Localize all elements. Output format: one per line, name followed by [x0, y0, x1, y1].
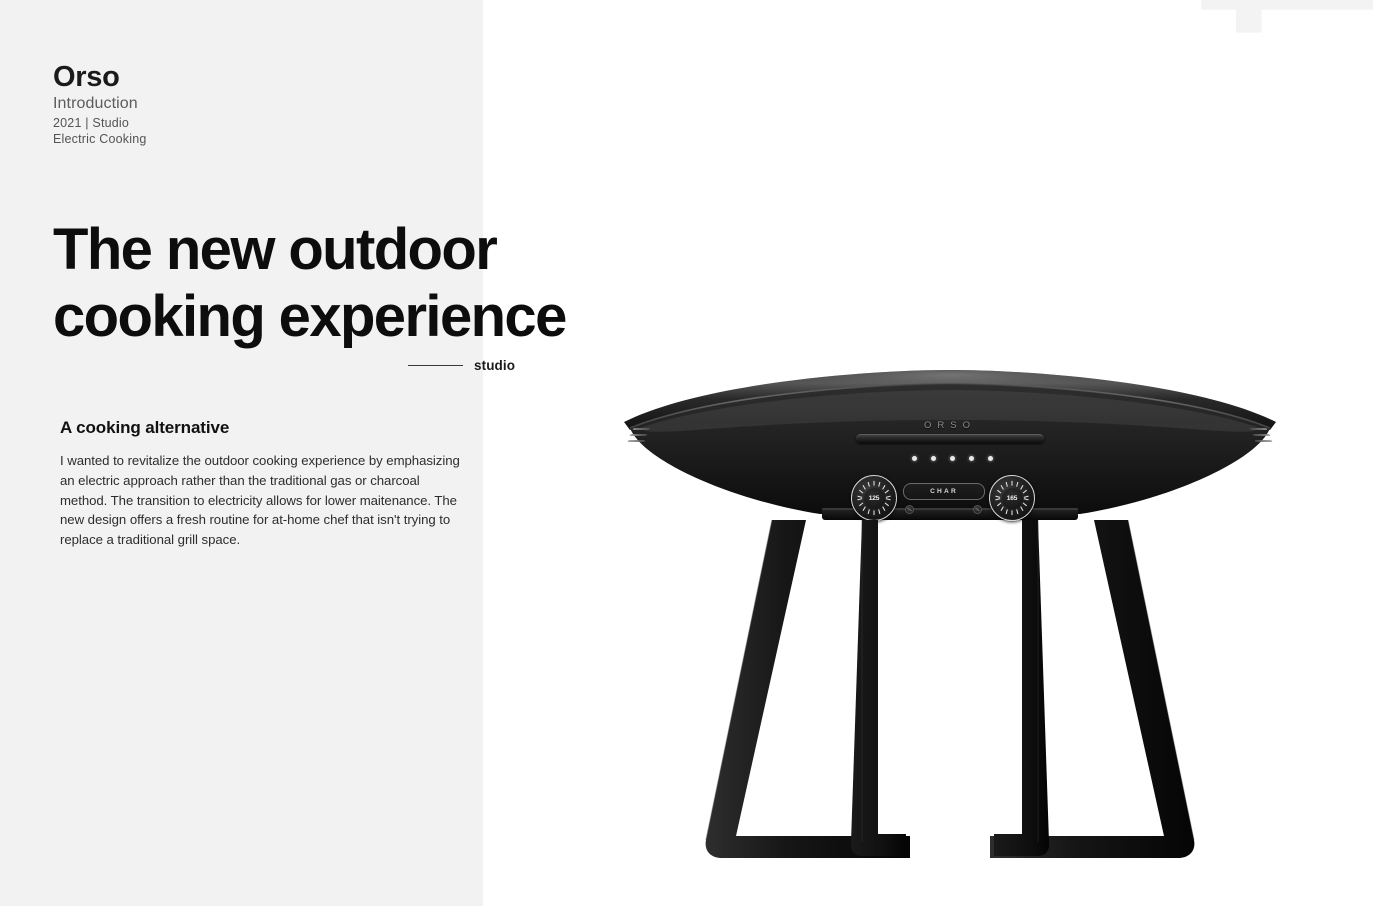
- vent-slat-left-3: [627, 440, 645, 442]
- dial-value-right: 165: [1007, 495, 1017, 502]
- screw-icon: [973, 505, 982, 514]
- vent-slat-left-1: [632, 428, 650, 430]
- grill-body: ORSO: [610, 368, 1290, 533]
- mode-display: CHAR: [903, 483, 985, 500]
- product-wordmark: ORSO: [610, 420, 1290, 431]
- led-indicator: [988, 456, 993, 461]
- led-indicator: [950, 456, 955, 461]
- lid-handle: [856, 434, 1044, 443]
- control-panel: 125 CHAR: [829, 453, 1055, 525]
- vent-slat-left-2: [629, 434, 647, 436]
- led-indicator-row: [912, 456, 993, 461]
- headline-line-2: cooking experience: [53, 283, 813, 350]
- temperature-dial-right[interactable]: 165: [989, 475, 1035, 521]
- vent-slat-right-1: [1249, 428, 1267, 430]
- studio-tag-label: studio: [474, 358, 515, 373]
- led-indicator: [912, 456, 917, 461]
- dial-face-left: 125: [864, 488, 885, 509]
- page-number-watermark: 04: [1169, 0, 1400, 28]
- brand-block: Orso Introduction 2021 | Studio Electric…: [53, 62, 147, 147]
- grill-legs: [610, 518, 1290, 878]
- meta-category: Electric Cooking: [53, 131, 147, 147]
- brand-title: Orso: [53, 62, 147, 92]
- meta-year-studio: 2021 | Studio: [53, 115, 147, 131]
- vent-slat-right-2: [1252, 434, 1270, 436]
- body-paragraph: I wanted to revitalize the outdoor cooki…: [60, 451, 460, 550]
- headline-line-1: The new outdoor: [53, 216, 813, 283]
- page-title: The new outdoor cooking experience: [53, 216, 813, 351]
- studio-tag: studio: [408, 358, 515, 373]
- dial-value-left: 125: [869, 495, 879, 502]
- screw-icon: [905, 505, 914, 514]
- dial-face-right: 165: [1002, 488, 1023, 509]
- section-label: Introduction: [53, 96, 147, 112]
- body-heading: A cooking alternative: [60, 418, 460, 438]
- product-image-orso-grill: ORSO: [610, 368, 1290, 878]
- temperature-dial-left[interactable]: 125: [851, 475, 897, 521]
- divider-rule: [408, 365, 463, 366]
- led-indicator: [969, 456, 974, 461]
- mode-display-label: CHAR: [930, 488, 958, 495]
- led-indicator: [931, 456, 936, 461]
- vent-slat-right-3: [1254, 440, 1272, 442]
- body-copy-block: A cooking alternative I wanted to revita…: [60, 418, 460, 550]
